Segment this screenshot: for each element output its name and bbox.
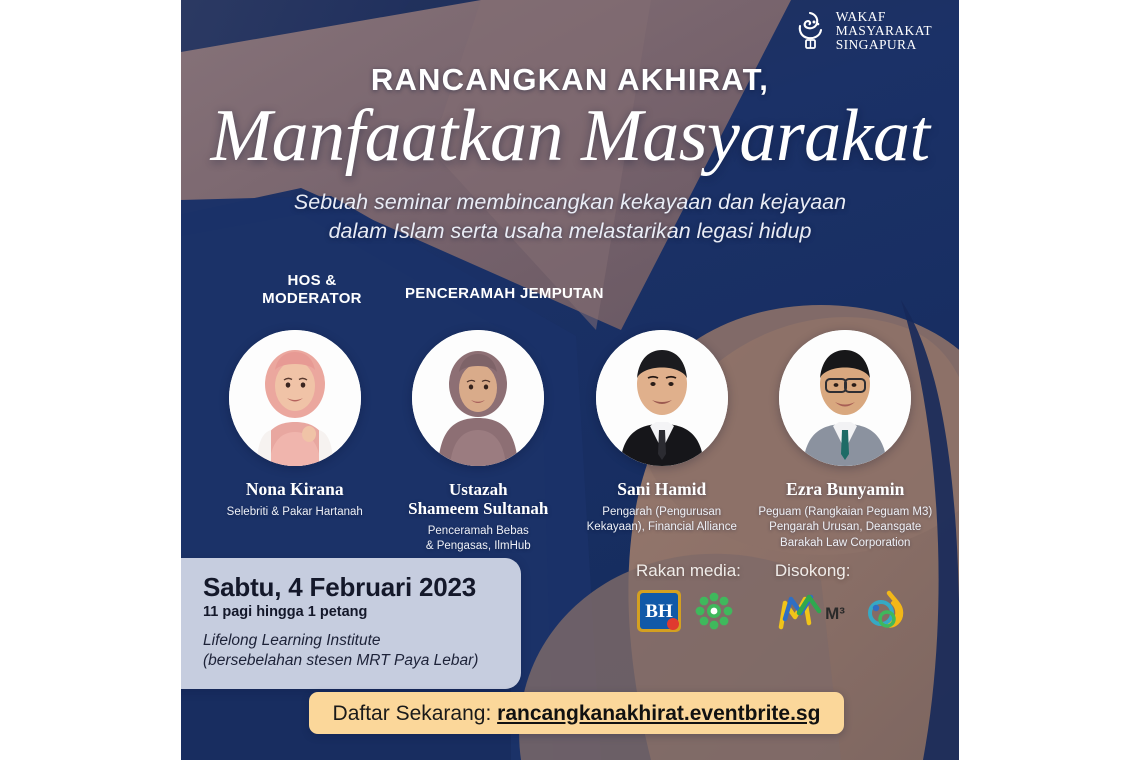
cta-prefix: Daftar Sekarang: xyxy=(333,702,498,725)
subtitle-line-1: Sebuah seminar membincangkan kekayaan da… xyxy=(181,188,959,216)
speaker-role-line-2: Kekayaan), Financial Alliance xyxy=(587,520,737,535)
portrait-man-grey-suit-glasses xyxy=(779,330,911,466)
portrait-woman-pink-hijab xyxy=(229,330,361,466)
speaker-name: Nona Kirana xyxy=(246,480,344,500)
speaker-name-line-1: Ustazah xyxy=(408,480,548,499)
host-role-line-2: MODERATOR xyxy=(237,290,387,308)
eventbrite-link[interactable]: rancangkanakhirat.eventbrite.sg xyxy=(497,702,820,725)
media-partners-group: Rakan media: BH xyxy=(636,562,741,633)
headline-script: Manfaatkan Masyarakat xyxy=(181,99,959,174)
speaker-role-line-1: Selebriti & Pakar Hartanah xyxy=(227,505,363,520)
headline-block: RANCANGKAN AKHIRAT, Manfaatkan Masyaraka… xyxy=(181,64,959,245)
mesra-community-logo xyxy=(863,589,907,633)
portrait-woman-mauve-hijab xyxy=(412,330,544,466)
speaker-name: Sani Hamid xyxy=(617,480,706,500)
event-poster: WAKAF MASYARAKAT SINGAPURA RANCANGKAN AK… xyxy=(181,0,959,760)
headline-kicker: RANCANGKAN AKHIRAT, xyxy=(181,64,959,95)
speaker-role-line-3: Barakah Law Corporation xyxy=(758,536,932,551)
event-details-card: Sabtu, 4 Februari 2023 11 pagi hingga 1 … xyxy=(181,558,521,689)
speaker-role: Selebriti & Pakar Hartanah xyxy=(227,505,363,520)
subtitle-line-2: dalam Islam serta usaha melastarikan leg… xyxy=(181,217,959,245)
speaker-card: Ustazah Shameem Sultanah Penceramah Beba… xyxy=(387,330,571,555)
speaker-role-line-2: & Pengasas, IlmHub xyxy=(426,539,531,554)
speaker-card: Nona Kirana Selebriti & Pakar Hartanah xyxy=(203,330,387,555)
speaker-name-line-1: Sani Hamid xyxy=(617,480,706,500)
brand-logo: WAKAF MASYARAKAT SINGAPURA xyxy=(795,10,932,52)
register-cta-bar[interactable]: Daftar Sekarang: rancangkanakhirat.event… xyxy=(309,692,844,734)
brand-wordmark: WAKAF MASYARAKAT SINGAPURA xyxy=(836,10,932,52)
speaker-card: Sani Hamid Pengarah (Pengurusan Kekayaan… xyxy=(570,330,754,555)
speaker-role-line-1: Peguam (Rangkaian Peguam M3) xyxy=(758,505,932,520)
svg-text:M³: M³ xyxy=(825,604,845,623)
event-date: Sabtu, 4 Februari 2023 xyxy=(203,574,501,601)
speaker-name: Ezra Bunyamin xyxy=(786,480,904,500)
headline-subtitle: Sebuah seminar membincangkan kekayaan da… xyxy=(181,188,959,245)
brand-line-3: SINGAPURA xyxy=(836,38,932,52)
speaker-role-line-2: Pengarah Urusan, Deansgate xyxy=(758,520,932,535)
sponsors-section: Rakan media: BH xyxy=(636,562,907,633)
brand-line-2: MASYARAKAT xyxy=(836,24,932,38)
host-role-label: HOS & MODERATOR xyxy=(237,272,387,309)
speaker-name-line-2: Shameem Sultanah xyxy=(408,499,548,518)
speaker-name-line-1: Ezra Bunyamin xyxy=(786,480,904,500)
speaker-role-line-1: Pengarah (Pengurusan xyxy=(587,505,737,520)
supported-by-label: Disokong: xyxy=(775,562,907,579)
speaker-name-line-1: Nona Kirana xyxy=(246,480,344,500)
speaker-role-line-1: Penceramah Bebas xyxy=(426,524,531,539)
speaker-role: Penceramah Bebas & Pengasas, IlmHub xyxy=(426,524,531,555)
green-flower-logo xyxy=(692,589,736,633)
speakers-role-label: PENCERAMAH JEMPUTAN xyxy=(405,285,604,302)
host-role-line-1: HOS & xyxy=(237,272,387,290)
speaker-role: Pengarah (Pengurusan Kekayaan), Financia… xyxy=(587,505,737,536)
m3-logo: M³ xyxy=(775,589,853,633)
venue-line-2: (bersebelahan stesen MRT Paya Lebar) xyxy=(203,651,501,671)
speaker-card: Ezra Bunyamin Peguam (Rangkaian Peguam M… xyxy=(754,330,938,555)
speaker-role: Peguam (Rangkaian Peguam M3) Pengarah Ur… xyxy=(758,505,932,551)
brand-line-1: WAKAF xyxy=(836,10,932,24)
berita-harian-logo: BH xyxy=(636,589,682,633)
supported-by-group: Disokong: M³ xyxy=(775,562,907,633)
poster-stage: WAKAF MASYARAKAT SINGAPURA RANCANGKAN AK… xyxy=(0,0,1140,760)
media-partner-logos: BH xyxy=(636,589,741,633)
speaker-name: Ustazah Shameem Sultanah xyxy=(408,480,548,519)
cta-text: Daftar Sekarang: rancangkanakhirat.event… xyxy=(333,703,821,724)
svg-text:BH: BH xyxy=(645,601,673,622)
speakers-row: Nona Kirana Selebriti & Pakar Hartanah xyxy=(203,330,937,555)
event-time: 11 pagi hingga 1 petang xyxy=(203,604,501,620)
media-partners-label: Rakan media: xyxy=(636,562,741,579)
event-venue: Lifelong Learning Institute (bersebelaha… xyxy=(203,631,501,671)
portrait-man-black-suit xyxy=(596,330,728,466)
wakaf-arabic-calligraphy-icon xyxy=(795,10,827,52)
supported-by-logos: M³ xyxy=(775,589,907,633)
venue-line-1: Lifelong Learning Institute xyxy=(203,631,501,651)
